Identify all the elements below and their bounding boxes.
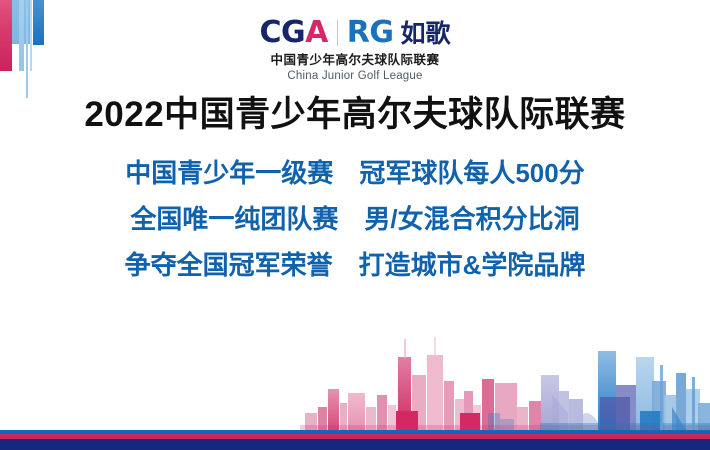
bottom-stripe-band — [0, 430, 710, 450]
cga-cg-text: CG — [259, 15, 305, 50]
rg-wordmark: RG — [347, 18, 394, 48]
feature-line-3-left: 争夺全国冠军荣誉 — [125, 250, 333, 280]
feature-line-2: 全国唯一纯团队赛男/女混合积分比洞 — [0, 206, 710, 232]
feature-line-1: 中国青少年一级赛冠军球队每人500分 — [0, 160, 710, 186]
org-name-en: China Junior Golf League — [0, 70, 710, 83]
cga-wordmark: CGA — [259, 18, 327, 48]
feature-line-1-right: 冠军球队每人500分 — [359, 158, 584, 188]
feature-list: 中国青少年一级赛冠军球队每人500分 全国唯一纯团队赛男/女混合积分比洞 争夺全… — [0, 160, 710, 298]
feature-line-2-right: 男/女混合积分比洞 — [364, 204, 579, 234]
feature-line-2-left: 全国唯一纯团队赛 — [130, 204, 338, 234]
city-skyline-illustration — [0, 295, 710, 430]
feature-line-3-right: 打造城市&学院品牌 — [359, 250, 586, 280]
feature-line-3: 争夺全国冠军荣誉打造城市&学院品牌 — [0, 252, 710, 278]
logo-divider-icon — [337, 20, 338, 46]
poster-canvas: CGA RG 如歌 中国青少年高尔夫球队际联赛 China Junior Gol… — [0, 0, 710, 450]
ruge-wordmark: 如歌 — [401, 21, 451, 46]
cga-a-text: A — [305, 15, 328, 50]
org-name-cn: 中国青少年高尔夫球队际联赛 — [0, 54, 710, 68]
logo-lockup: CGA RG 如歌 中国青少年高尔夫球队际联赛 China Junior Gol… — [0, 18, 710, 82]
stripe-navy — [0, 439, 710, 450]
feature-line-1-left: 中国青少年一级赛 — [125, 158, 333, 188]
page-title: 2022中国青少年高尔夫球队际联赛 — [0, 96, 710, 135]
logo-wordmark-row: CGA RG 如歌 — [259, 18, 450, 48]
